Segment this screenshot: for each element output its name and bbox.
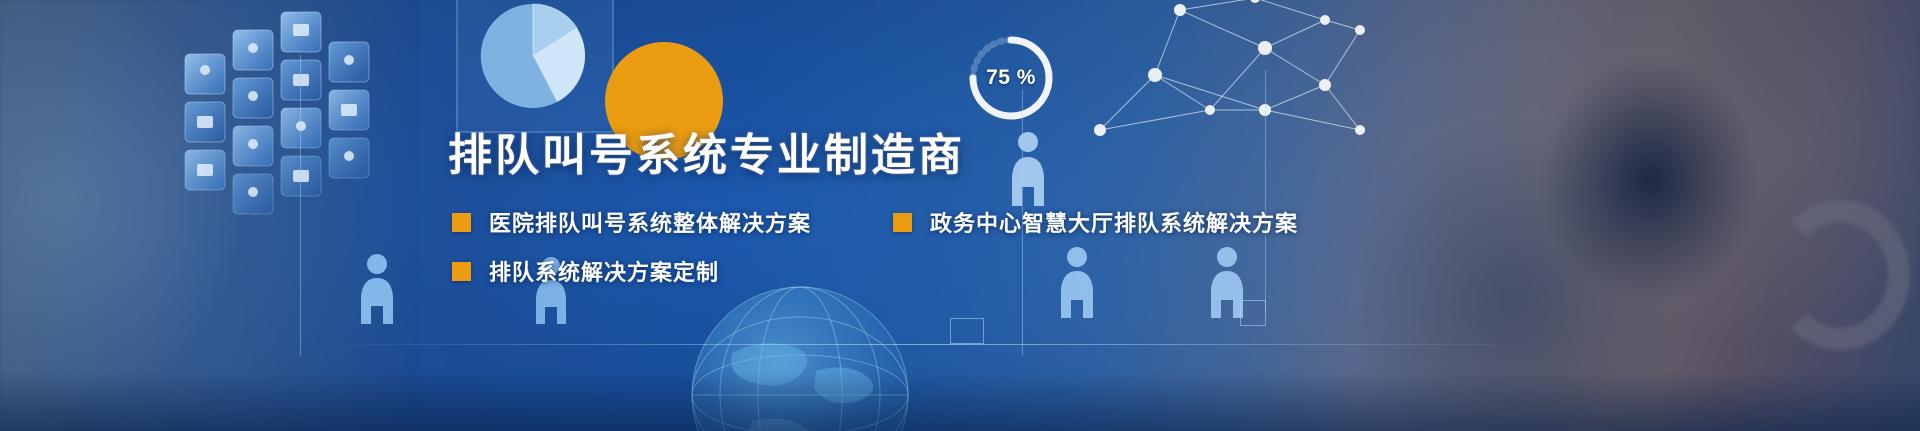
banner-headline: 排队叫号系统专业制造商 xyxy=(448,134,965,178)
bullet-square-icon xyxy=(452,262,471,281)
bullet-label: 政务中心智慧大厅排队系统解决方案 xyxy=(930,206,1298,238)
bullet-item-custom: 排队系统解决方案定制 xyxy=(452,255,719,287)
bullet-square-icon xyxy=(893,213,912,232)
bullet-item-hospital: 医院排队叫号系统整体解决方案 xyxy=(452,206,811,238)
bullet-item-government: 政务中心智慧大厅排队系统解决方案 xyxy=(893,206,1298,238)
banner-content: 排队叫号系统专业制造商 医院排队叫号系统整体解决方案 排队系统解决方案定制 政务… xyxy=(0,0,1920,431)
promo-banner: 75 % xyxy=(0,0,1920,431)
bullet-label: 排队系统解决方案定制 xyxy=(489,255,719,287)
bullet-square-icon xyxy=(452,213,471,232)
bullet-label: 医院排队叫号系统整体解决方案 xyxy=(489,206,811,238)
